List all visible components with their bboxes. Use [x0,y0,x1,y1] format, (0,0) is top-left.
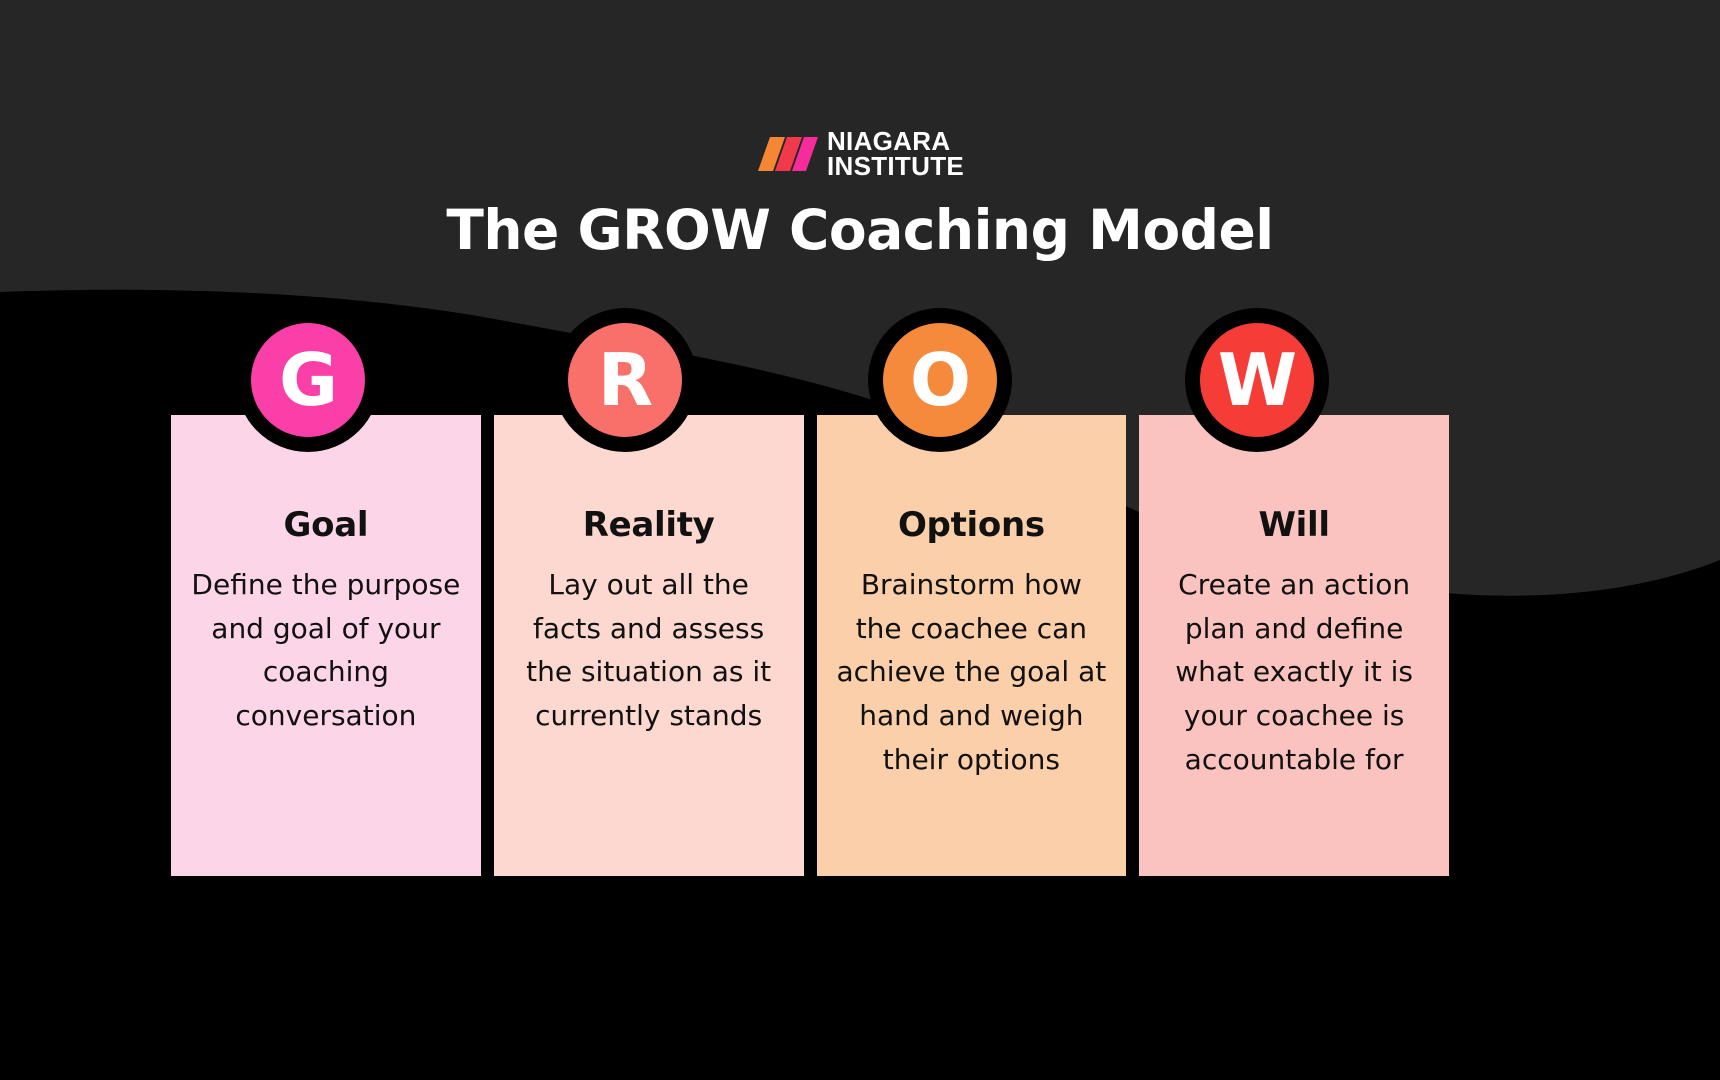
card-title: Will [1153,505,1435,545]
card-reality: Reality Lay out all the facts and assess… [494,415,804,876]
badge-inner-o: O [883,323,997,437]
brand-name-line2: INSTITUTE [827,154,964,179]
card-goal: Goal Define the purpose and goal of your… [171,415,481,876]
badge-letter: G [279,344,337,416]
card-title: Reality [508,505,790,545]
badge-letter: W [1218,344,1296,416]
card-description: Lay out all the facts and assess the sit… [514,563,784,738]
badge-w: W [1185,308,1329,452]
badge-o: O [868,308,1012,452]
card-title: Goal [185,505,467,545]
badge-inner-w: W [1200,323,1314,437]
page-title: The GROW Coaching Model [446,198,1273,262]
badge-inner-g: G [251,323,365,437]
brand-wordmark: NIAGARA INSTITUTE [827,129,964,180]
badge-inner-r: R [568,323,682,437]
grow-cards-row: Goal Define the purpose and goal of your… [171,415,1449,876]
badge-g: G [236,308,380,452]
brand-logo: NIAGARA INSTITUTE [756,127,964,181]
card-title: Options [831,505,1113,545]
badge-letter: O [910,344,970,416]
card-description: Create an action plan and define what ex… [1159,563,1429,781]
card-will: Will Create an action plan and define wh… [1139,415,1449,876]
card-description: Brainstorm how the coachee can achieve t… [836,563,1106,781]
badge-letter: R [598,344,652,416]
niagara-slash-bars-logo-icon [756,135,818,173]
card-options: Options Brainstorm how the coachee can a… [817,415,1127,876]
infographic-canvas: NIAGARA INSTITUTE The GROW Coaching Mode… [0,0,1720,1080]
header: NIAGARA INSTITUTE The GROW Coaching Mode… [0,0,1720,280]
badge-r: R [553,308,697,452]
card-description: Define the purpose and goal of your coac… [191,563,461,738]
